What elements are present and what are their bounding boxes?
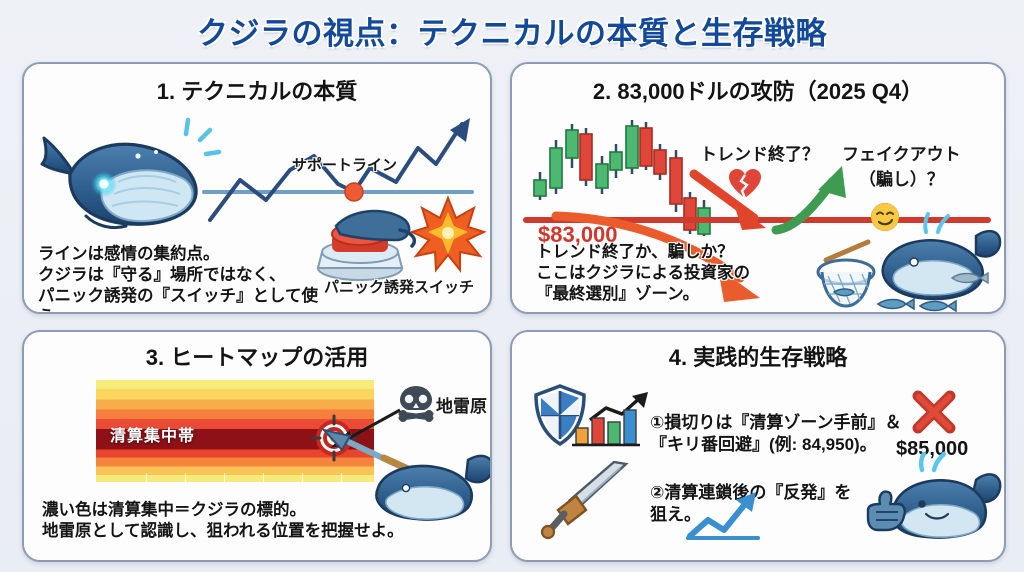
panel-2-title: 2. 83,000ドルの攻防（2025 Q4） — [512, 74, 1004, 106]
panel-1-title: 1. テクニカルの本質 — [24, 74, 490, 106]
panel-3-title: 3. ヒートマップの活用 — [24, 340, 490, 372]
whale-icon — [30, 112, 220, 242]
strategy-2-marker: ② — [650, 483, 664, 502]
strategy-1-text: 損切りは『清算ゾーン手前』＆ 『キリ番回避』(例: 84,950)。 — [650, 413, 902, 454]
trend-end-annotation: トレンド終了？ — [700, 140, 819, 165]
panel-technical-essence: 1. テクニカルの本質 — [22, 62, 492, 314]
panel-1-body: ラインは感情の集約点。 クジラは『守る』場所ではなく、 パニック誘発の『スイッチ… — [38, 244, 338, 314]
panel-2-body: トレンド終了か、騙しか？ ここはクジラによる投資家の 『最終選別』ゾーン。 — [536, 242, 846, 305]
panel-survival-strategy: 4. 実践的生存戦略 ①損切りは『清算ゾーン手前』＆ 『キリ番回避』(例: 84… — [510, 330, 1006, 562]
minefield-label: 地雷原 — [436, 392, 487, 417]
panel-83000-battle: 2. 83,000ドルの攻防（2025 Q4） — [510, 62, 1006, 314]
panel-4-title: 4. 実践的生存戦略 — [512, 340, 1004, 372]
broken-heart-icon — [728, 168, 762, 200]
explosion-icon — [412, 198, 484, 270]
sword-icon — [540, 462, 630, 538]
support-line-label: サポートライン — [292, 154, 397, 175]
strategy-1-marker: ① — [650, 413, 664, 432]
panel-3-body: 濃い色は清算集中＝クジラの標的。 地雷原として認識し、狙われる位置を把握せよ。 — [42, 500, 482, 542]
page-title: クジラの視点：テクニカルの本質と生存戦略 — [0, 8, 1024, 53]
panic-switch-label: パニック誘発スイッチ — [324, 276, 474, 297]
infographic-page: クジラの視点：テクニカルの本質と生存戦略 1. テクニカルの本質 — [0, 0, 1024, 572]
heatmap-band-label: 清算集中帯 — [110, 422, 195, 446]
strategy-item-1: ①損切りは『清算ゾーン手前』＆ 『キリ番回避』(例: 84,950)。 — [650, 390, 910, 456]
bar-chart-icon — [570, 390, 652, 448]
panel-heatmap: 3. ヒートマップの活用 清算集中帯 — [22, 330, 492, 562]
thumbs-up-whale-icon — [864, 454, 1002, 540]
fakeout-annotation: フェイクアウト （騙し）？ — [842, 140, 961, 190]
up-arrow-icon — [686, 490, 766, 540]
whale-with-net-icon — [820, 214, 1002, 314]
red-x-icon — [910, 388, 958, 436]
